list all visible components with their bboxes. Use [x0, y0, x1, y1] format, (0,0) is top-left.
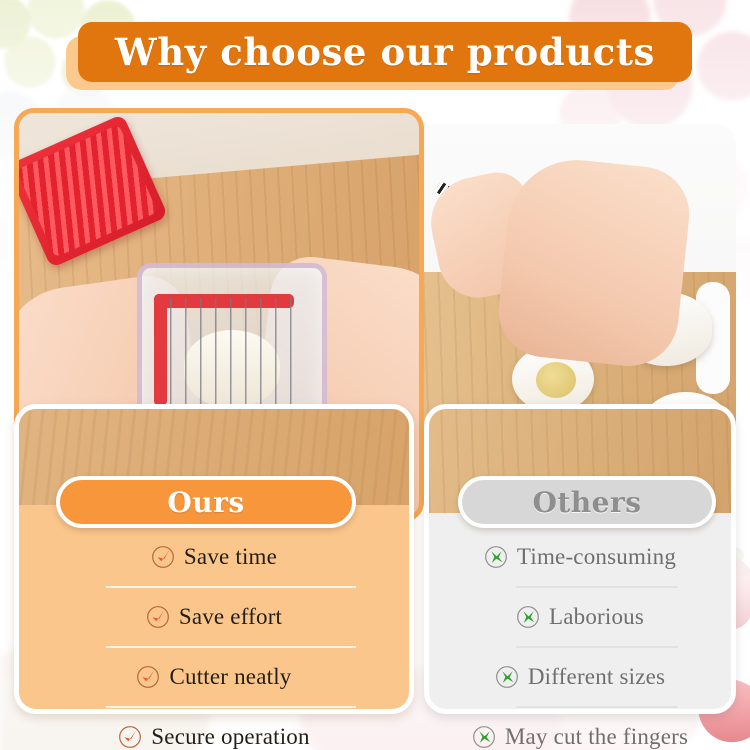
list-item-label: Cutter neatly: [169, 664, 291, 690]
check-circle-icon: [136, 665, 160, 689]
x-circle-icon: [516, 605, 540, 629]
list-divider: [106, 706, 356, 708]
list-item-label: May cut the fingers: [505, 724, 688, 750]
x-circle-icon: [472, 725, 496, 749]
list-item-label: Save time: [184, 544, 277, 570]
list-item: Save effort: [14, 594, 414, 640]
ours-header-label: Ours: [167, 486, 244, 519]
list-divider: [106, 646, 356, 648]
right-hand: [494, 153, 694, 371]
list-divider: [516, 586, 678, 588]
list-item: Different sizes: [424, 654, 736, 700]
list-item: May cut the fingers: [424, 714, 736, 750]
list-divider: [516, 706, 678, 708]
check-circle-icon: [118, 725, 142, 749]
list-item-label: Different sizes: [528, 664, 665, 690]
list-item: Secure operation: [14, 714, 414, 750]
list-divider: [516, 646, 678, 648]
page-title: Why choose our products: [115, 30, 655, 74]
list-item-label: Secure operation: [151, 724, 309, 750]
list-item-label: Time-consuming: [517, 544, 676, 570]
list-item: Time-consuming: [424, 534, 736, 580]
ours-header-pill: Ours: [56, 476, 356, 528]
check-circle-icon: [151, 545, 175, 569]
list-item: Laborious: [424, 594, 736, 640]
egg-yolk: [536, 362, 576, 398]
infographic-canvas: Why choose our products: [0, 0, 750, 750]
list-item-label: Laborious: [549, 604, 644, 630]
list-divider: [106, 586, 356, 588]
list-item: Save time: [14, 534, 414, 580]
slicer-red-frame-side: [154, 294, 167, 406]
title-banner: Why choose our products: [78, 22, 692, 82]
others-header-label: Others: [532, 486, 641, 519]
slicer-wires: [170, 298, 294, 414]
x-circle-icon: [495, 665, 519, 689]
check-circle-icon: [146, 605, 170, 629]
others-header-pill: Others: [458, 476, 716, 528]
list-item-label: Save effort: [179, 604, 282, 630]
list-item: Cutter neatly: [14, 654, 414, 700]
x-circle-icon: [484, 545, 508, 569]
